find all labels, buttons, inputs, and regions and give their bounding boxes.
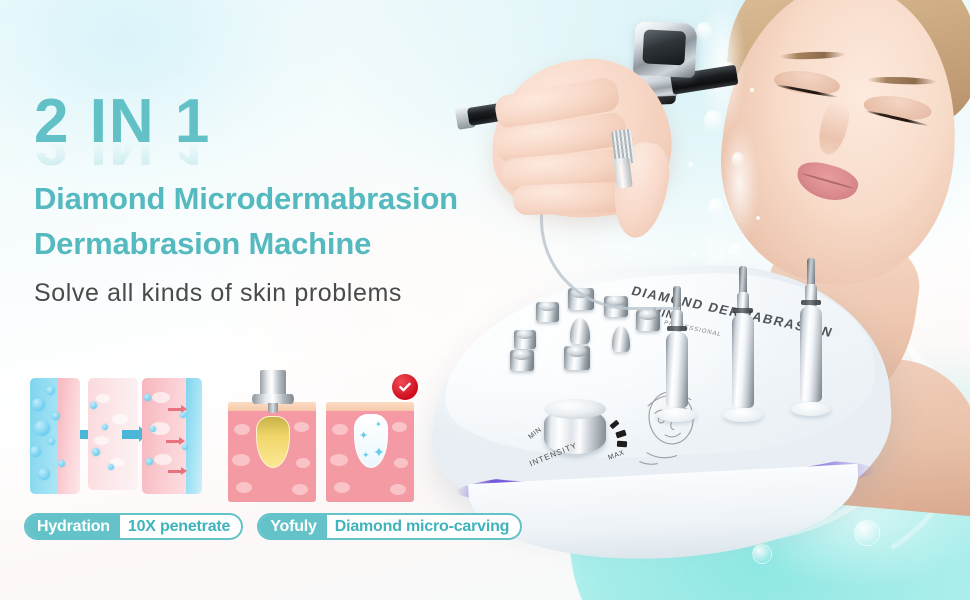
wand-body [666,332,688,408]
diamond-tip-cone[interactable] [612,326,630,352]
skin-layer-stage-1 [30,378,80,494]
wand-holder [791,402,831,416]
subtitle-line-1: Diamond Microdermabrasion [34,180,634,218]
badge-brand-value: Diamond micro-carving [327,515,521,538]
knob-label-max: MAX [607,449,625,461]
diamond-tip-cone[interactable] [570,318,590,344]
illustration-row: ✦ ✦ ✦ ✦ [30,372,418,504]
product-banner: DIAMOND DERMABRASION MINI PROFESSIONAL M… [0,0,970,600]
subtitle-line-2: Dermabrasion Machine [34,225,634,263]
airbrush-cup-opening [642,29,686,65]
wand-band [667,326,687,331]
badge-hydration-value: 10X penetrate [120,515,241,538]
knob-label-min: MIN [527,426,543,441]
flow-arrow [122,430,140,439]
diamond-tip[interactable] [636,310,660,331]
wand-body [800,306,822,402]
model-brow-left [779,51,845,60]
sebum-plug [256,416,290,468]
model-nose [814,99,853,158]
wand-body [732,314,754,408]
knob-top-face [544,399,606,419]
feature-badge-row: Hydration 10X penetrate Yofuly Diamond m… [24,513,522,540]
headline-block: 2 IN 1 2 IN 1 Diamond Microdermabrasion … [34,92,634,308]
badge-brand-key: Yofuly [259,515,327,538]
handpiece-wand[interactable] [732,266,754,422]
model-brow-right [867,76,937,85]
model-lips [793,157,862,207]
handpiece-wand[interactable] [800,258,822,416]
model-lip-line [801,172,853,189]
tagline: Solve all kinds of skin problems [34,279,634,308]
wand-band [733,308,753,313]
clean-pore: ✦ ✦ ✦ ✦ [354,414,388,468]
badge-hydration-key: Hydration [26,515,120,538]
hydration-illustration [30,372,202,500]
skin-layer-stage-3 [142,378,202,494]
check-icon [392,374,418,400]
badge-hydration: Hydration 10X penetrate [24,513,243,540]
airbrush-fluid-cup [633,21,698,78]
wand-holder [723,408,763,422]
page-title-reflection: 2 IN 1 [34,138,634,172]
wand-band [801,300,821,305]
pore-panel-before [228,402,316,502]
pore-cleansing-illustration: ✦ ✦ ✦ ✦ [228,372,418,504]
diamond-tip[interactable] [564,346,590,370]
wand-tip [807,258,815,286]
badge-brand: Yofuly Diamond micro-carving [257,513,522,540]
diamond-tip[interactable] [510,350,534,371]
wand-holder [657,408,697,422]
pore-panel-after: ✦ ✦ ✦ ✦ [326,402,414,502]
device-tip-tool [250,370,296,416]
diamond-tip[interactable] [514,330,536,349]
wand-tip [739,266,747,294]
